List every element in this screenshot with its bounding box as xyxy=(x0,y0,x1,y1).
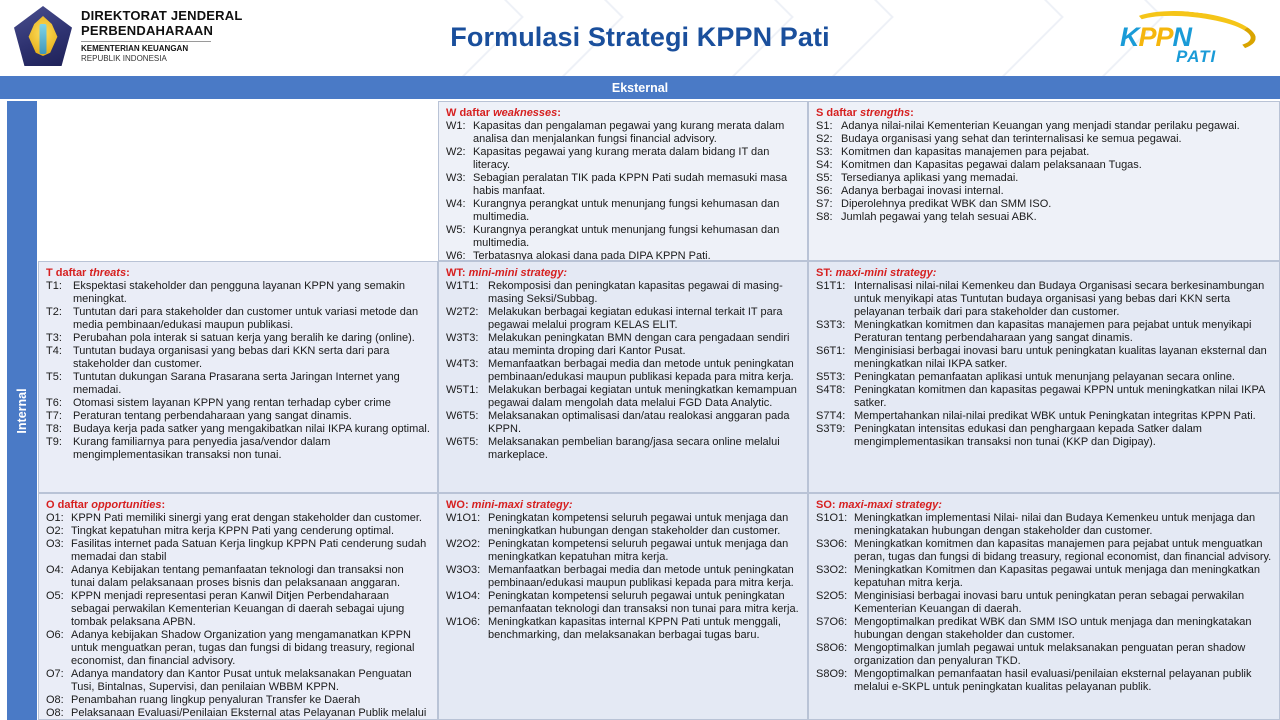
list-item-text: Pelaksanaan Evaluasi/Penilaian Eksternal… xyxy=(71,707,430,720)
list-item-key: S5: xyxy=(816,172,837,185)
slide-header: DIREKTORAT JENDERAL PERBENDAHARAAN KEMEN… xyxy=(0,0,1280,76)
threats-heading-prefix: T daftar xyxy=(46,267,89,279)
list-item: W3:Sebagian peralatan TIK pada KPPN Pati… xyxy=(446,172,800,198)
list-item: W1O6:Meningkatkan kapasitas internal KPP… xyxy=(446,616,800,642)
list-item: S2:Budaya organisasi yang sehat dan teri… xyxy=(816,133,1272,146)
list-item-text: Adanya nilai-nilai Kementerian Keuangan … xyxy=(841,120,1272,133)
strengths-heading: S daftar strengths: xyxy=(816,107,1272,119)
external-axis-label: Eksternal xyxy=(612,81,668,95)
list-item-key: T2: xyxy=(46,306,69,319)
external-axis-bar: Eksternal xyxy=(0,76,1280,100)
list-item-key: W4T3: xyxy=(446,358,484,371)
list-item: S3T3:Meningkatkan komitmen dan kapasitas… xyxy=(816,319,1272,345)
list-item: W6:Terbatasnya alokasi dana pada DIPA KP… xyxy=(446,250,800,261)
list-item-key: O8: xyxy=(46,707,67,720)
list-item-text: Adanya Kebijakan tentang pemanfaatan tek… xyxy=(71,564,430,590)
list-item-text: Kurangnya perangkat untuk menunjang fung… xyxy=(473,224,800,250)
list-item-text: Komitmen dan Kapasitas pegawai dalam pel… xyxy=(841,159,1272,172)
list-item-key: T5: xyxy=(46,371,69,384)
list-item: O4:Adanya Kebijakan tentang pemanfaatan … xyxy=(46,564,430,590)
quadrant-wo-strategy: WO: mini-maxi strategy: W1O1:Peningkatan… xyxy=(438,493,808,720)
list-item-text: Melaksanakan pembelian barang/jasa secar… xyxy=(488,436,800,462)
list-item-key: O8: xyxy=(46,694,67,707)
list-item-text: Adanya kebijakan Shadow Organization yan… xyxy=(71,629,430,668)
list-item: O5:KPPN menjadi representasi peran Kanwi… xyxy=(46,590,430,629)
list-item-text: Menginisiasi berbagai inovasi baru untuk… xyxy=(854,590,1272,616)
list-item-text: Melakukan peningkatan BMN dengan cara pe… xyxy=(488,332,800,358)
quadrant-weaknesses: W daftar weaknesses: W1:Kapasitas dan pe… xyxy=(438,101,808,261)
list-item-text: Kurang familiarnya para penyedia jasa/ve… xyxy=(73,436,430,462)
list-item-key: S6: xyxy=(816,185,837,198)
list-item: S6:Adanya berbagai inovasi internal. xyxy=(816,185,1272,198)
list-item-text: Meningkatkan komitmen dan kapasitas mana… xyxy=(854,319,1272,345)
list-item-text: KPPN menjadi representasi peran Kanwil D… xyxy=(71,590,430,629)
list-item: S7T4:Mempertahankan nilai-nilai predikat… xyxy=(816,410,1272,423)
list-item: S4T8:Peningkatan komitmen dan kapasitas … xyxy=(816,384,1272,410)
list-item-key: W4: xyxy=(446,198,469,211)
list-item-text: Melaksanakan optimalisasi dan/atau realo… xyxy=(488,410,800,436)
list-item: O7:Adanya mandatory dan Kantor Pusat unt… xyxy=(46,668,430,694)
list-item-key: T1: xyxy=(46,280,69,293)
list-item: W1:Kapasitas dan pengalaman pegawai yang… xyxy=(446,120,800,146)
list-item-key: T8: xyxy=(46,423,69,436)
list-item: S1T1:Internalisasi nilai-nilai Kemenkeu … xyxy=(816,280,1272,319)
list-item: T1:Ekspektasi stakeholder dan pengguna l… xyxy=(46,280,430,306)
list-item-key: O4: xyxy=(46,564,67,577)
list-item: S8O9:Mengoptimalkan pemanfaatan hasil ev… xyxy=(816,668,1272,694)
list-item: S3O2:Meningkatkan Komitmen dan Kapasitas… xyxy=(816,564,1272,590)
list-item-key: S8O6: xyxy=(816,642,850,655)
weaknesses-heading: W daftar weaknesses: xyxy=(446,107,800,119)
list-item: W2:Kapasitas pegawai yang kurang merata … xyxy=(446,146,800,172)
list-item-text: Peningkatan kompetensi seluruh pegawai u… xyxy=(488,590,800,616)
st-heading-em: maxi-mini strategy: xyxy=(836,267,937,279)
list-item: S1:Adanya nilai-nilai Kementerian Keuang… xyxy=(816,120,1272,133)
list-item-text: Tuntutan dari para stakeholder dan custo… xyxy=(73,306,430,332)
org-line-1: DIREKTORAT JENDERAL xyxy=(81,8,243,23)
kppn-letter-k: K xyxy=(1120,22,1139,52)
weaknesses-heading-suffix: : xyxy=(557,107,561,119)
threats-heading-suffix: : xyxy=(126,267,130,279)
list-item-text: Memanfaatkan berbagai media dan metode u… xyxy=(488,358,800,384)
list-item-key: S3O6: xyxy=(816,538,850,551)
weaknesses-list: W1:Kapasitas dan pengalaman pegawai yang… xyxy=(446,120,800,261)
list-item-key: W3O3: xyxy=(446,564,484,577)
list-item: T3:Perubahan pola interak si satuan kerj… xyxy=(46,332,430,345)
list-item-key: T7: xyxy=(46,410,69,423)
strengths-heading-em: strengths xyxy=(860,107,910,119)
list-item-text: Melakukan berbagai kegiatan edukasi inte… xyxy=(488,306,800,332)
strengths-heading-prefix: S daftar xyxy=(816,107,860,119)
list-item: S2O5:Menginisiasi berbagai inovasi baru … xyxy=(816,590,1272,616)
opportunities-heading: O daftar opportunities: xyxy=(46,499,430,511)
list-item-key: W2T2: xyxy=(446,306,484,319)
list-item-text: Kapasitas dan pengalaman pegawai yang ku… xyxy=(473,120,800,146)
list-item-text: Peningkatan komitmen dan kapasitas pegaw… xyxy=(854,384,1272,410)
list-item-key: W2O2: xyxy=(446,538,484,551)
list-item-key: S5T3: xyxy=(816,371,850,384)
st-heading-prefix: ST: xyxy=(816,267,836,279)
list-item: T7:Peraturan tentang perbendaharaan yang… xyxy=(46,410,430,423)
list-item-key: S4T8: xyxy=(816,384,850,397)
opportunities-heading-suffix: : xyxy=(162,499,166,511)
weaknesses-heading-prefix: W daftar xyxy=(446,107,493,119)
wo-list: W1O1:Peningkatan kompetensi seluruh pega… xyxy=(446,512,800,642)
threats-heading: T daftar threats: xyxy=(46,267,430,279)
wt-heading-em: mini-mini strategy: xyxy=(469,267,567,279)
list-item-key: W1O1: xyxy=(446,512,484,525)
list-item: O6:Adanya kebijakan Shadow Organization … xyxy=(46,629,430,668)
list-item-text: Peraturan tentang perbendaharaan yang sa… xyxy=(73,410,430,423)
list-item-key: T9: xyxy=(46,436,69,449)
opportunities-heading-em: opportunities xyxy=(91,499,161,511)
list-item-key: W5T1: xyxy=(446,384,484,397)
list-item-key: S2: xyxy=(816,133,837,146)
list-item-key: W3T3: xyxy=(446,332,484,345)
list-item: T5:Tuntutan dukungan Sarana Prasarana se… xyxy=(46,371,430,397)
wo-heading-prefix: WO: xyxy=(446,499,472,511)
list-item: T6:Otomasi sistem layanan KPPN yang rent… xyxy=(46,397,430,410)
list-item-key: O2: xyxy=(46,525,67,538)
list-item-text: Peningkatan kompetensi seluruh pegawai u… xyxy=(488,512,800,538)
list-item-key: S2O5: xyxy=(816,590,850,603)
list-item-key: W6T5: xyxy=(446,436,484,449)
list-item-key: W1O4: xyxy=(446,590,484,603)
list-item-key: S3T3: xyxy=(816,319,850,332)
list-item-key: O7: xyxy=(46,668,67,681)
list-item-key: O1: xyxy=(46,512,67,525)
threats-list: T1:Ekspektasi stakeholder dan pengguna l… xyxy=(46,280,430,462)
list-item: T9:Kurang familiarnya para penyedia jasa… xyxy=(46,436,430,462)
list-item: W2O2:Peningkatan kompetensi seluruh pega… xyxy=(446,538,800,564)
wt-heading-prefix: WT: xyxy=(446,267,469,279)
list-item-text: Meningkatkan komitmen dan kapasitas mana… xyxy=(854,538,1272,564)
quadrant-wt-strategy: WT: mini-mini strategy: W1T1:Rekomposisi… xyxy=(438,261,808,493)
list-item-text: Terbatasnya alokasi dana pada DIPA KPPN … xyxy=(473,250,800,261)
quadrant-threats: T daftar threats: T1:Ekspektasi stakehol… xyxy=(38,261,438,493)
list-item-text: Peningkatan intensitas edukasi dan pengh… xyxy=(854,423,1272,449)
list-item-text: Meningkatkan Komitmen dan Kapasitas pega… xyxy=(854,564,1272,590)
list-item: O1:KPPN Pati memiliki sinergi yang erat … xyxy=(46,512,430,525)
list-item-text: KPPN Pati memiliki sinergi yang erat den… xyxy=(71,512,430,525)
list-item-text: Tuntutan budaya organisasi yang bebas da… xyxy=(73,345,430,371)
wo-heading: WO: mini-maxi strategy: xyxy=(446,499,800,511)
strengths-heading-suffix: : xyxy=(910,107,914,119)
list-item-key: O5: xyxy=(46,590,67,603)
wt-heading: WT: mini-mini strategy: xyxy=(446,267,800,279)
list-item: W6T5:Melaksanakan optimalisasi dan/atau … xyxy=(446,410,800,436)
list-item-text: Peningkatan pemanfaatan aplikasi untuk m… xyxy=(854,371,1272,384)
list-item-text: Memanfaatkan berbagai media dan metode u… xyxy=(488,564,800,590)
list-item-text: Adanya mandatory dan Kantor Pusat untuk … xyxy=(71,668,430,694)
st-list: S1T1:Internalisasi nilai-nilai Kemenkeu … xyxy=(816,280,1272,449)
list-item-key: S7T4: xyxy=(816,410,850,423)
list-item: W5T1:Melakukan berbagai kegiatan untuk m… xyxy=(446,384,800,410)
list-item: W1O4:Peningkatan kompetensi seluruh pega… xyxy=(446,590,800,616)
list-item-text: Otomasi sistem layanan KPPN yang rentan … xyxy=(73,397,430,410)
list-item-text: Komitmen dan kapasitas manajemen para pe… xyxy=(841,146,1272,159)
list-item: S5:Tersedianya aplikasi yang memadai. xyxy=(816,172,1272,185)
list-item: S3O6:Meningkatkan komitmen dan kapasitas… xyxy=(816,538,1272,564)
list-item-text: Ekspektasi stakeholder dan pengguna laya… xyxy=(73,280,430,306)
internal-axis-label: Internal xyxy=(15,388,29,433)
list-item: O8:Pelaksanaan Evaluasi/Penilaian Ekster… xyxy=(46,707,430,720)
list-item-key: S8: xyxy=(816,211,837,224)
list-item: T4:Tuntutan budaya organisasi yang bebas… xyxy=(46,345,430,371)
list-item: S1O1:Meningkatkan implementasi Nilai- ni… xyxy=(816,512,1272,538)
list-item-key: W5: xyxy=(446,224,469,237)
strengths-list: S1:Adanya nilai-nilai Kementerian Keuang… xyxy=(816,120,1272,224)
list-item-text: Budaya kerja pada satker yang mengakibat… xyxy=(73,423,430,436)
list-item: S3:Komitmen dan kapasitas manajemen para… xyxy=(816,146,1272,159)
list-item: W1O1:Peningkatan kompetensi seluruh pega… xyxy=(446,512,800,538)
quadrant-st-strategy: ST: maxi-mini strategy: S1T1:Internalisa… xyxy=(808,261,1280,493)
list-item-text: Diperolehnya predikat WBK dan SMM ISO. xyxy=(841,198,1272,211)
list-item: W1T1:Rekomposisi dan peningkatan kapasit… xyxy=(446,280,800,306)
wt-list: W1T1:Rekomposisi dan peningkatan kapasit… xyxy=(446,280,800,462)
list-item: W3O3:Memanfaatkan berbagai media dan met… xyxy=(446,564,800,590)
list-item-text: Fasilitas internet pada Satuan Kerja lin… xyxy=(71,538,430,564)
list-item: S4:Komitmen dan Kapasitas pegawai dalam … xyxy=(816,159,1272,172)
list-item-key: T6: xyxy=(46,397,69,410)
quadrant-opportunities: O daftar opportunities: O1:KPPN Pati mem… xyxy=(38,493,438,720)
threats-heading-em: threats xyxy=(89,267,126,279)
list-item: S3T9:Peningkatan intensitas edukasi dan … xyxy=(816,423,1272,449)
swot-matrix: W daftar weaknesses: W1:Kapasitas dan pe… xyxy=(38,101,1280,720)
page-title: Formulasi Strategi KPPN Pati xyxy=(0,22,1280,53)
list-item-key: S7O6: xyxy=(816,616,850,629)
list-item-text: Menginisiasi berbagai inovasi baru untuk… xyxy=(854,345,1272,371)
matrix-corner-cell xyxy=(38,101,438,261)
list-item: W4T3:Memanfaatkan berbagai media dan met… xyxy=(446,358,800,384)
list-item-text: Budaya organisasi yang sehat dan terinte… xyxy=(841,133,1272,146)
list-item-text: Meningkatkan kapasitas internal KPPN Pat… xyxy=(488,616,800,642)
list-item-text: Mengoptimalkan jumlah pegawai untuk mela… xyxy=(854,642,1272,668)
ministry-line-2: REPUBLIK INDONESIA xyxy=(81,54,243,64)
list-item-text: Mengoptimalkan pemanfaatan hasil evaluas… xyxy=(854,668,1272,694)
list-item: S6T1:Menginisiasi berbagai inovasi baru … xyxy=(816,345,1272,371)
list-item-text: Perubahan pola interak si satuan kerja y… xyxy=(73,332,430,345)
list-item-key: S8O9: xyxy=(816,668,850,681)
list-item-key: T4: xyxy=(46,345,69,358)
internal-axis-bar: Internal xyxy=(7,101,37,720)
list-item-text: Internalisasi nilai-nilai Kemenkeu dan B… xyxy=(854,280,1272,319)
list-item-key: S1O1: xyxy=(816,512,850,525)
list-item: O3:Fasilitas internet pada Satuan Kerja … xyxy=(46,538,430,564)
list-item-text: Mempertahankan nilai-nilai predikat WBK … xyxy=(854,410,1272,423)
list-item: W3T3:Melakukan peningkatan BMN dengan ca… xyxy=(446,332,800,358)
opportunities-list: O1:KPPN Pati memiliki sinergi yang erat … xyxy=(46,512,430,720)
list-item-text: Penambahan ruang lingkup penyaluran Tran… xyxy=(71,694,430,707)
list-item-text: Jumlah pegawai yang telah sesuai ABK. xyxy=(841,211,1272,224)
list-item-text: Meningkatkan implementasi Nilai- nilai d… xyxy=(854,512,1272,538)
list-item-key: W1: xyxy=(446,120,469,133)
list-item-text: Sebagian peralatan TIK pada KPPN Pati su… xyxy=(473,172,800,198)
list-item: T2:Tuntutan dari para stakeholder dan cu… xyxy=(46,306,430,332)
list-item: S7:Diperolehnya predikat WBK dan SMM ISO… xyxy=(816,198,1272,211)
list-item: W4:Kurangnya perangkat untuk menunjang f… xyxy=(446,198,800,224)
kppn-letters-pp: PP xyxy=(1139,22,1173,52)
list-item: W2T2:Melakukan berbagai kegiatan edukasi… xyxy=(446,306,800,332)
list-item-key: S3O2: xyxy=(816,564,850,577)
list-item-text: Melakukan berbagai kegiatan untuk mening… xyxy=(488,384,800,410)
so-heading-em: maxi-maxi strategy: xyxy=(839,499,942,511)
wo-heading-em: mini-maxi strategy: xyxy=(472,499,573,511)
list-item-key: S3: xyxy=(816,146,837,159)
list-item: S8:Jumlah pegawai yang telah sesuai ABK. xyxy=(816,211,1272,224)
st-heading: ST: maxi-mini strategy: xyxy=(816,267,1272,279)
so-heading: SO: maxi-maxi strategy: xyxy=(816,499,1272,511)
list-item-key: W2: xyxy=(446,146,469,159)
list-item-text: Kapasitas pegawai yang kurang merata dal… xyxy=(473,146,800,172)
list-item-text: Adanya berbagai inovasi internal. xyxy=(841,185,1272,198)
so-list: S1O1:Meningkatkan implementasi Nilai- ni… xyxy=(816,512,1272,694)
quadrant-strengths: S daftar strengths: S1:Adanya nilai-nila… xyxy=(808,101,1280,261)
list-item-key: S1: xyxy=(816,120,837,133)
list-item-text: Tingkat kepatuhan mitra kerja KPPN Pati … xyxy=(71,525,430,538)
list-item-key: S6T1: xyxy=(816,345,850,358)
list-item-key: O6: xyxy=(46,629,67,642)
list-item-key: S7: xyxy=(816,198,837,211)
list-item-text: Rekomposisi dan peningkatan kapasitas pe… xyxy=(488,280,800,306)
list-item-text: Tuntutan dukungan Sarana Prasarana serta… xyxy=(73,371,430,397)
list-item: W5:Kurangnya perangkat untuk menunjang f… xyxy=(446,224,800,250)
list-item: W6T5:Melaksanakan pembelian barang/jasa … xyxy=(446,436,800,462)
list-item-text: Tersedianya aplikasi yang memadai. xyxy=(841,172,1272,185)
list-item-key: W6T5: xyxy=(446,410,484,423)
list-item-key: S4: xyxy=(816,159,837,172)
list-item: S5T3:Peningkatan pemanfaatan aplikasi un… xyxy=(816,371,1272,384)
list-item: T8:Budaya kerja pada satker yang mengaki… xyxy=(46,423,430,436)
list-item: S7O6:Mengoptimalkan predikat WBK dan SMM… xyxy=(816,616,1272,642)
kppn-subtitle: PATI xyxy=(1176,47,1216,67)
opportunities-heading-prefix: O daftar xyxy=(46,499,91,511)
list-item-text: Mengoptimalkan predikat WBK dan SMM ISO … xyxy=(854,616,1272,642)
so-heading-prefix: SO: xyxy=(816,499,839,511)
list-item-key: W6: xyxy=(446,250,469,261)
list-item: S8O6:Mengoptimalkan jumlah pegawai untuk… xyxy=(816,642,1272,668)
list-item-key: W1T1: xyxy=(446,280,484,293)
slide-root: DIREKTORAT JENDERAL PERBENDAHARAAN KEMEN… xyxy=(0,0,1280,720)
list-item-text: Peningkatan kompetensi seluruh pegawai u… xyxy=(488,538,800,564)
list-item: O2:Tingkat kepatuhan mitra kerja KPPN Pa… xyxy=(46,525,430,538)
list-item-key: S3T9: xyxy=(816,423,850,436)
list-item-key: W1O6: xyxy=(446,616,484,629)
list-item-key: T3: xyxy=(46,332,69,345)
list-item-text: Kurangnya perangkat untuk menunjang fung… xyxy=(473,198,800,224)
list-item-key: S1T1: xyxy=(816,280,850,293)
weaknesses-heading-em: weaknesses xyxy=(493,107,557,119)
list-item-key: O3: xyxy=(46,538,67,551)
quadrant-so-strategy: SO: maxi-maxi strategy: S1O1:Meningkatka… xyxy=(808,493,1280,720)
list-item: O8:Penambahan ruang lingkup penyaluran T… xyxy=(46,694,430,707)
kppn-pati-logo: KPPN PATI xyxy=(1110,14,1262,66)
list-item-key: W3: xyxy=(446,172,469,185)
